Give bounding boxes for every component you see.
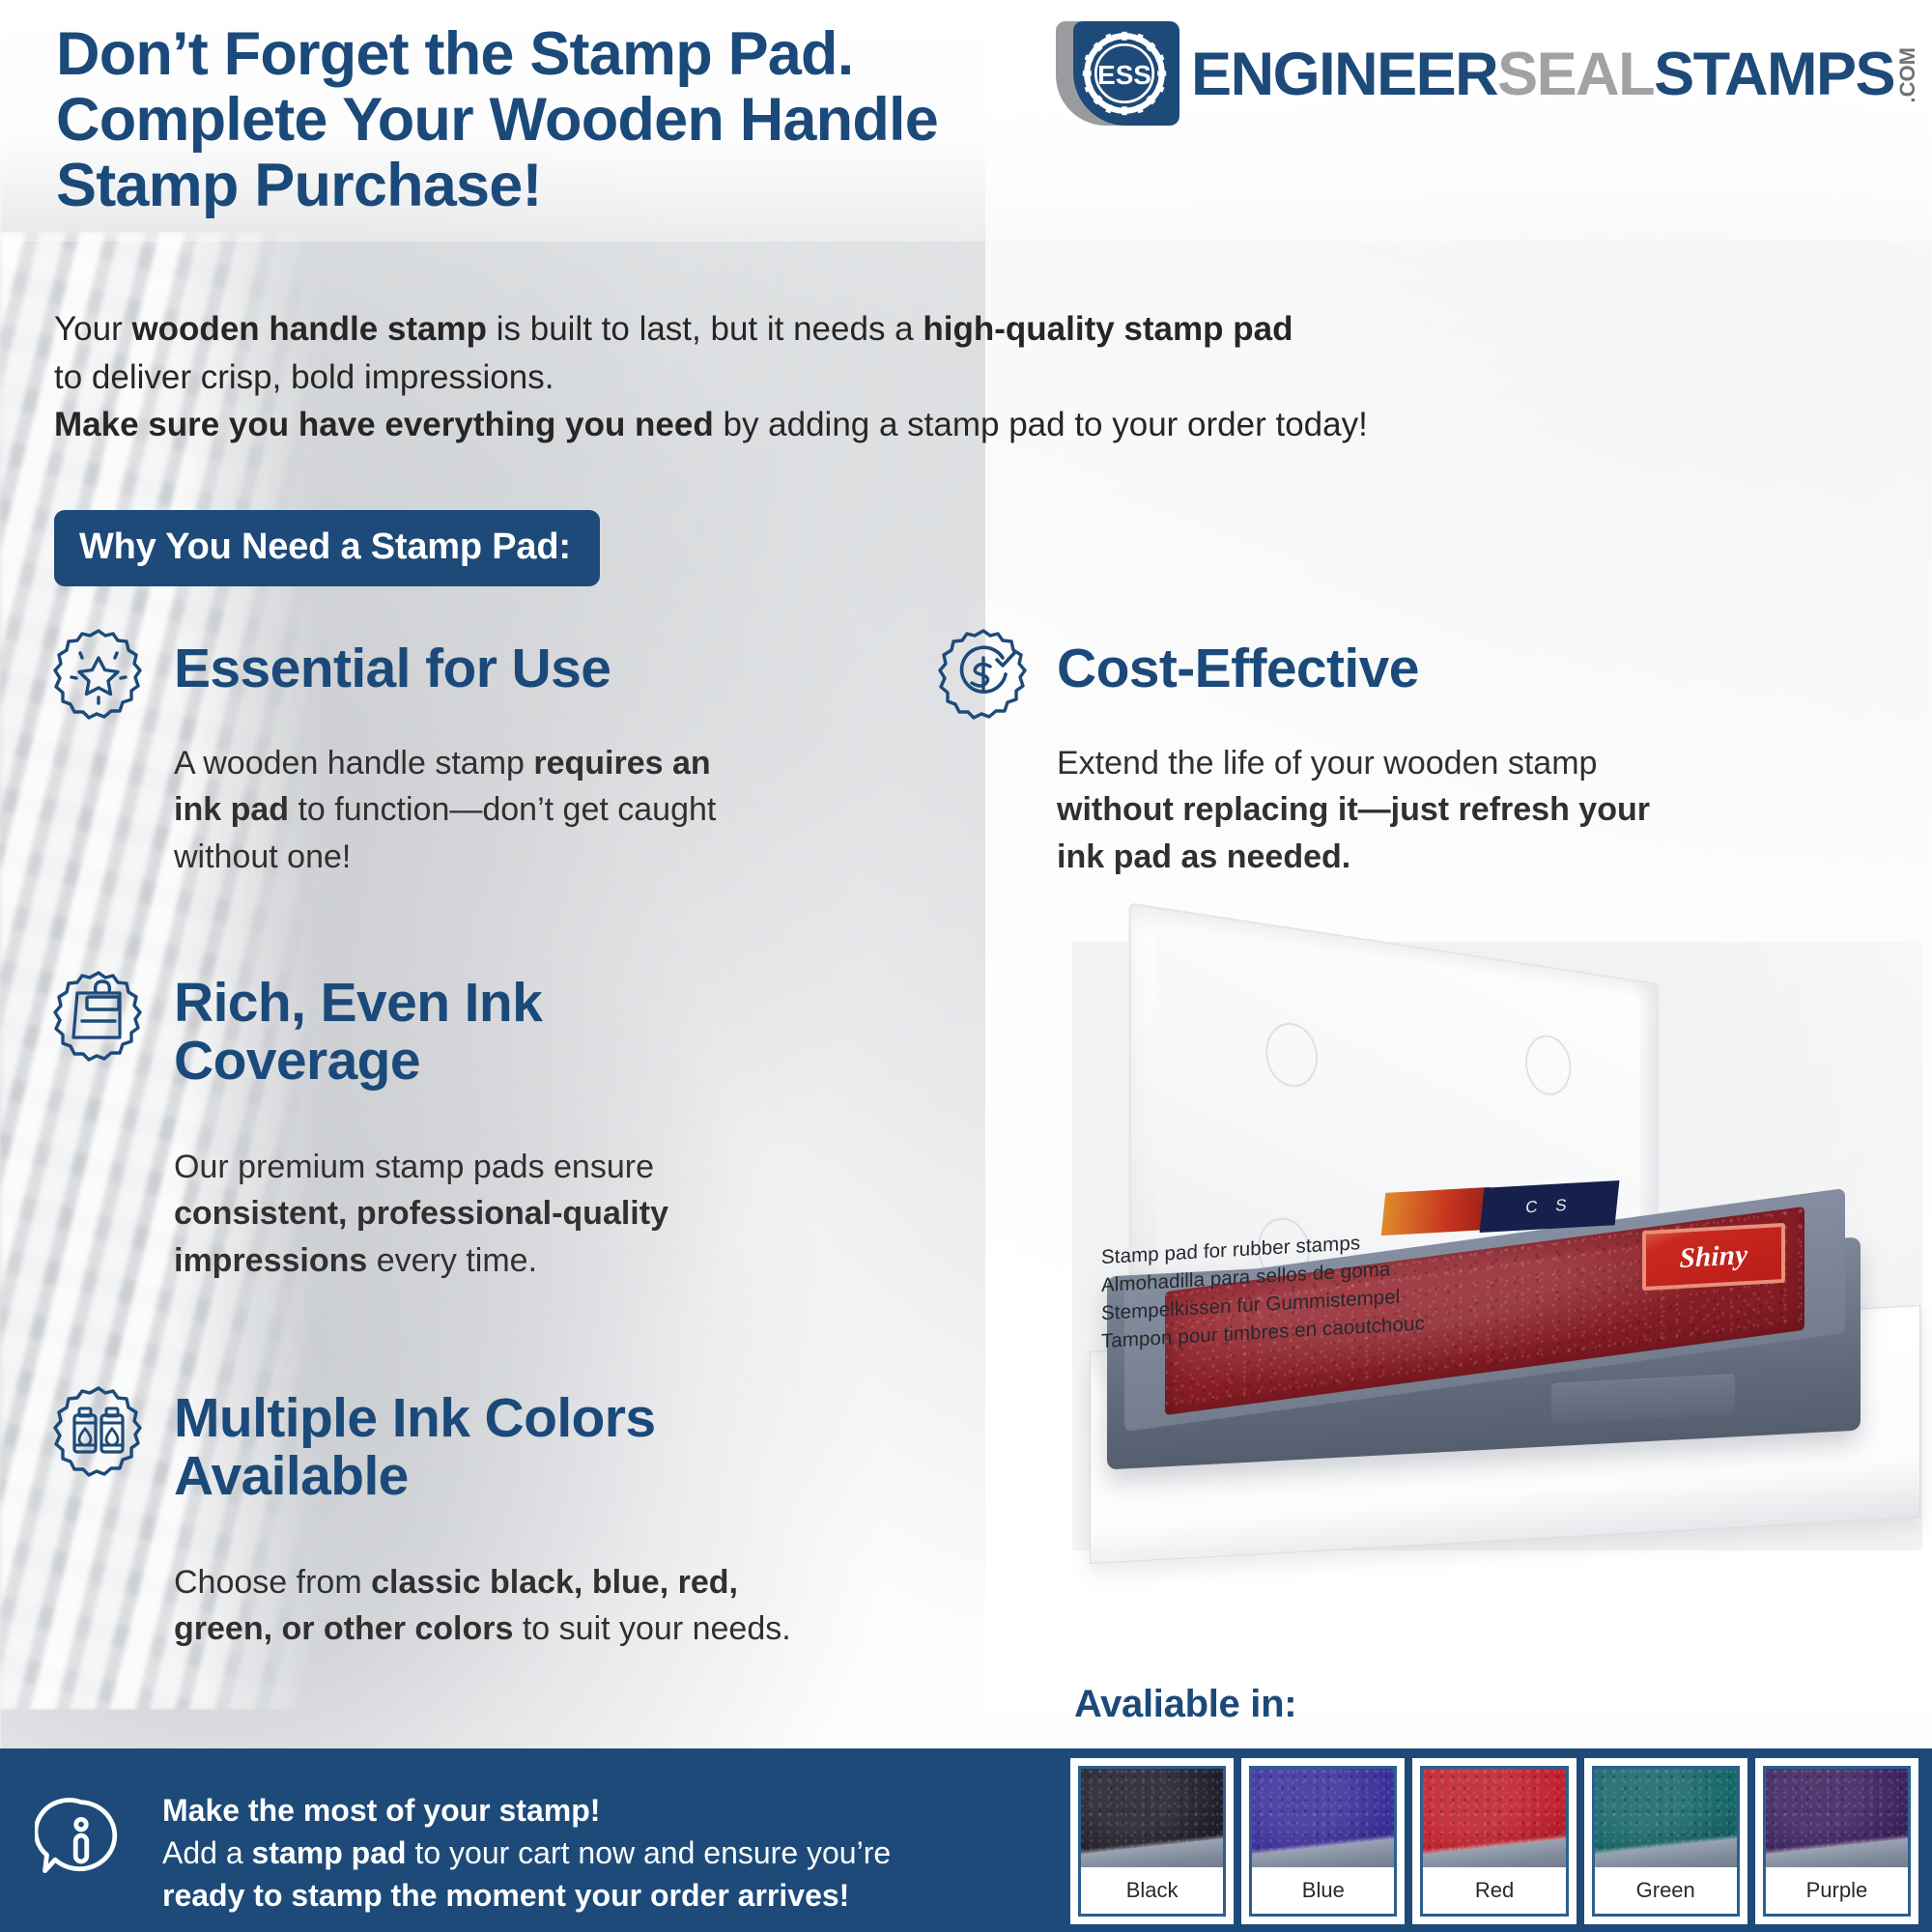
logo-word-engineer: ENGINEER (1191, 44, 1497, 105)
feature-title-multiple-ink-colors: Multiple Ink Colors Available (174, 1389, 889, 1506)
available-in-title: Avaliable in: (1074, 1683, 1296, 1726)
footer-line-3: ready to stamp the moment your order arr… (162, 1874, 1032, 1917)
headline-line-2: Complete Your Wooden Handle (56, 87, 1196, 153)
footer-line-2: Add a stamp pad to your cart now and ens… (162, 1832, 1032, 1874)
brand-logo[interactable]: ESS ENGINEERSEALSTAMPS.COM (1056, 17, 1918, 131)
feature-title-essential: Essential for Use (174, 639, 611, 697)
swatch-green[interactable]: Green (1584, 1758, 1747, 1924)
info-bubble-icon (35, 1793, 128, 1886)
logo-word-tld: .COM (1897, 47, 1918, 102)
feature-body-rich-even-ink: Our premium stamp pads ensure consistent… (174, 1144, 908, 1284)
swatch-label: Purple (1766, 1867, 1908, 1914)
intro-line-3: Make sure you have everything you need b… (54, 401, 1542, 449)
swatch-label: Blue (1252, 1867, 1394, 1914)
feature-body-essential: A wooden handle stamp requires an ink pa… (174, 740, 908, 880)
feature-body-multiple-ink-colors: Choose from classic black, blue, red, gr… (174, 1559, 927, 1653)
footer-line-1: Make the most of your stamp! (162, 1789, 1032, 1832)
stamp-badge-icon (50, 968, 147, 1065)
lid-dimple (1265, 1020, 1318, 1091)
swatch-image (1423, 1769, 1565, 1867)
swatch-purple[interactable]: Purple (1755, 1758, 1918, 1924)
shiny-brand-badge: Shiny (1642, 1223, 1785, 1291)
intro-line-1: Your wooden handle stamp is built to las… (54, 305, 1542, 354)
ess-shield-icon: ESS (1056, 17, 1183, 131)
feature-title-rich-even-ink: Rich, Even Ink Coverage (174, 974, 850, 1091)
swatch-image (1595, 1769, 1737, 1867)
shiny-brand-text: Shiny (1680, 1239, 1748, 1275)
feature-title-cost-effective: Cost-Effective (1057, 639, 1419, 697)
gear-icon: ESS (1081, 29, 1168, 118)
intro-line-2: to deliver crisp, bold impressions. (54, 354, 1542, 402)
feature-body-cost-effective: Extend the life of your wooden stamp wit… (1057, 740, 1907, 880)
swatch-image (1081, 1769, 1223, 1867)
ink-bottles-badge-icon (50, 1383, 147, 1480)
logo-word-stamps: STAMPS (1654, 44, 1894, 105)
star-badge-icon (50, 626, 147, 723)
swatch-label: Black (1081, 1867, 1223, 1914)
page-headline: Don’t Forget the Stamp Pad. Complete You… (56, 21, 1196, 218)
swatch-label: Green (1595, 1867, 1737, 1914)
swatch-black[interactable]: Black (1070, 1758, 1234, 1924)
dollar-check-badge-icon (935, 626, 1032, 723)
swatch-image (1252, 1769, 1394, 1867)
infographic-page: Don’t Forget the Stamp Pad. Complete You… (0, 0, 1932, 1932)
section-pill-why-you-need: Why You Need a Stamp Pad: (54, 510, 600, 586)
footer-cta-text: Make the most of your stamp! Add a stamp… (162, 1789, 1032, 1917)
ess-monogram: ESS (1097, 60, 1151, 90)
logo-word-seal: SEAL (1497, 44, 1654, 105)
swatch-blue[interactable]: Blue (1241, 1758, 1405, 1924)
headline-line-3: Stamp Purchase! (56, 153, 1196, 218)
swatch-label: Red (1423, 1867, 1565, 1914)
swatch-red[interactable]: Red (1412, 1758, 1576, 1924)
headline-line-1: Don’t Forget the Stamp Pad. (56, 21, 1196, 87)
swatch-image (1766, 1769, 1908, 1867)
color-swatch-list: Black Blue Red Green (1070, 1758, 1918, 1924)
logo-wordmark: ENGINEERSEALSTAMPS.COM (1191, 44, 1918, 105)
lid-dimple (1525, 1033, 1571, 1098)
intro-paragraph: Your wooden handle stamp is built to las… (54, 305, 1542, 449)
